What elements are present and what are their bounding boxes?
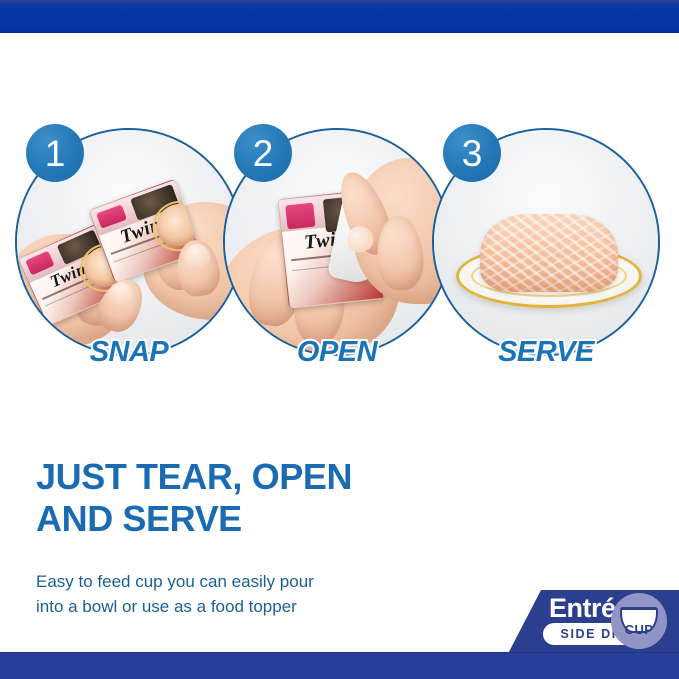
cup-label: CUP <box>611 622 667 637</box>
step-caption-2: OPEN <box>223 336 451 369</box>
headline: JUST TEAR, OPEN AND SERVE <box>36 456 436 540</box>
top-blue-bar <box>0 0 679 33</box>
entree-badge: Entrée SIDE DISH CUP <box>465 590 679 652</box>
subtext: Easy to feed cup you can easily pour int… <box>36 570 416 619</box>
step-panel-3: 3 SERVE <box>432 128 660 356</box>
food-loaf <box>480 214 618 292</box>
step-caption-3: SERVE <box>432 336 660 369</box>
step-panel-1: Twins Twins <box>15 128 243 356</box>
subtext-line-2: into a bowl or use as a food topper <box>36 595 416 620</box>
step-panel-2: Twins 2 OPEN <box>223 128 451 356</box>
bottom-blue-bar <box>0 652 679 679</box>
headline-line-1: JUST TEAR, OPEN <box>36 456 436 498</box>
step-caption-1: SNAP <box>15 336 243 369</box>
cup-icon-circle: CUP <box>611 593 667 649</box>
step-number-badge-3: 3 <box>443 124 501 182</box>
step-number-badge-1: 1 <box>26 124 84 182</box>
headline-line-2: AND SERVE <box>36 498 436 540</box>
step-number-badge-2: 2 <box>234 124 292 182</box>
promo-page: Twins Twins <box>0 0 679 679</box>
steps-row: Twins Twins <box>0 122 679 382</box>
subtext-line-1: Easy to feed cup you can easily pour <box>36 570 416 595</box>
pack-pink-badge <box>285 203 316 230</box>
